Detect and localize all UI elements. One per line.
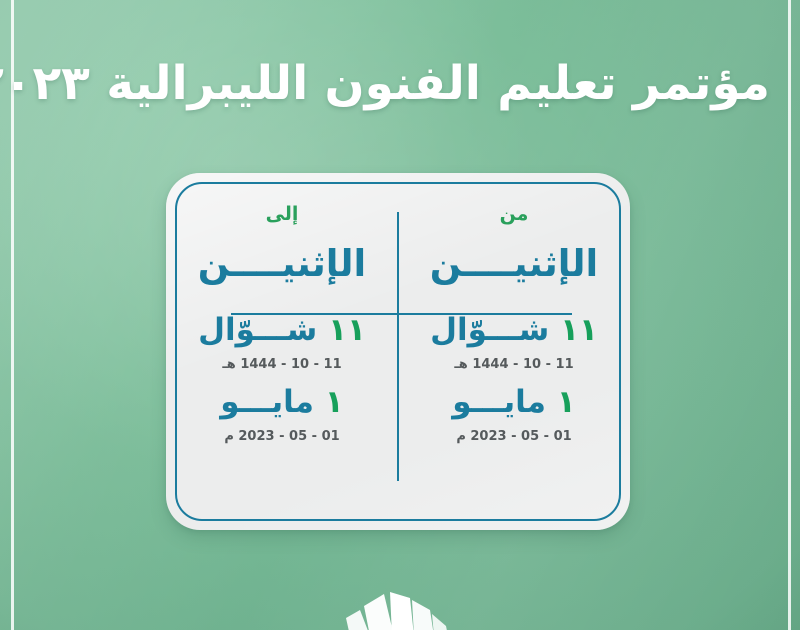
date-range-card: من الإثنيــــن ١١ شـــوّال 11 - 10 - 144… — [166, 173, 630, 530]
from-gregorian-day: ١ — [557, 384, 576, 420]
poster-canvas: مؤتمر تعليم الفنون الليبرالية ٢٠٢٣ من ال… — [0, 0, 800, 630]
to-hijri-date: ١١ شـــوّال — [166, 315, 398, 351]
from-weekday: الإثنيــــن — [398, 245, 630, 289]
to-hijri-month: شـــوّال — [198, 312, 317, 348]
to-weekday: الإثنيــــن — [166, 245, 398, 289]
from-gregorian-month: مايـــو — [452, 384, 546, 420]
page-title: مؤتمر تعليم الفنون الليبرالية ٢٠٢٣ — [30, 58, 770, 110]
from-hijri-block: ١١ شـــوّال 11 - 10 - 1444 هـ — [398, 315, 630, 371]
to-gregorian-day: ١ — [325, 384, 344, 420]
column-from: من الإثنيــــن ١١ شـــوّال 11 - 10 - 144… — [398, 173, 630, 530]
column-to: إلى الإثنيــــن ١١ شـــوّال 11 - 10 - 14… — [166, 173, 398, 530]
to-label: إلى — [166, 205, 398, 227]
edge-rule-right-line — [788, 0, 791, 630]
from-hijri-date: ١١ شـــوّال — [398, 315, 630, 351]
to-hijri-day: ١١ — [328, 312, 366, 348]
from-hijri-numeric: 11 - 10 - 1444 هـ — [398, 358, 630, 371]
to-hijri-numeric: 11 - 10 - 1444 هـ — [166, 358, 398, 371]
from-hijri-month: شـــوّال — [430, 312, 549, 348]
vertical-divider — [397, 212, 399, 481]
to-hijri-block: ١١ شـــوّال 11 - 10 - 1444 هـ — [166, 315, 398, 371]
horizontal-divider — [231, 313, 572, 315]
from-hijri-day: ١١ — [560, 312, 598, 348]
from-gregorian-date: ١ مايـــو — [398, 387, 630, 423]
from-label: من — [398, 205, 630, 227]
from-gregorian-numeric: 01 - 05 - 2023 م — [398, 430, 630, 443]
from-gregorian-block: ١ مايـــو 01 - 05 - 2023 م — [398, 387, 630, 443]
to-gregorian-month: مايـــو — [220, 384, 314, 420]
to-gregorian-date: ١ مايـــو — [166, 387, 398, 423]
to-gregorian-numeric: 01 - 05 - 2023 م — [166, 430, 398, 443]
to-gregorian-block: ١ مايـــو 01 - 05 - 2023 م — [166, 387, 398, 443]
